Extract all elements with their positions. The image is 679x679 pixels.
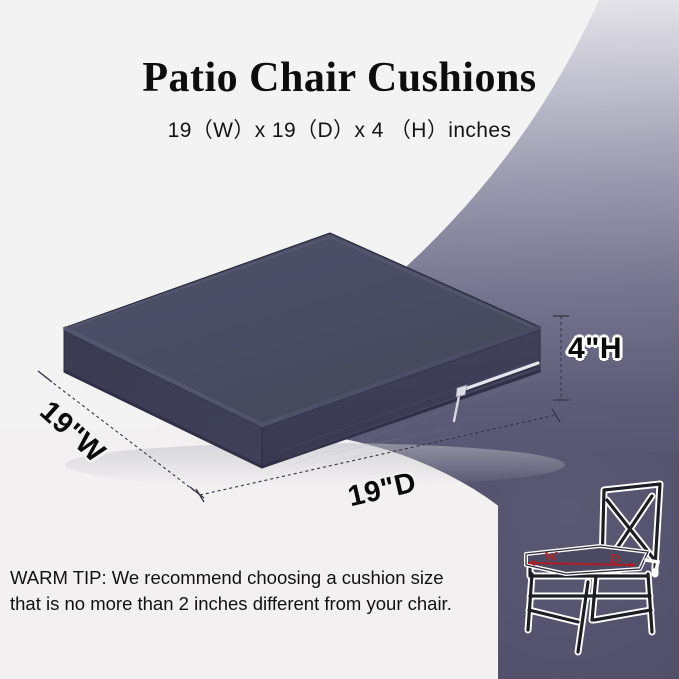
page-subtitle: 19（W）x 19（D）x 4 （H）inches <box>0 114 679 144</box>
product-infographic: Patio Chair Cushions 19（W）x 19（D）x 4 （H）… <box>0 0 679 679</box>
seat-depth-letter: D <box>610 552 620 567</box>
warm-tip: WARM TIP: We recommend choosing a cushio… <box>10 565 510 618</box>
chair-diagram: W D <box>512 470 679 678</box>
height-dimension-label: 4"H <box>568 332 622 366</box>
page-title: Patio Chair Cushions <box>0 54 679 102</box>
cushion-illustration <box>30 215 570 490</box>
warm-tip-line-1: WARM TIP: We recommend choosing a cushio… <box>10 565 510 591</box>
warm-tip-line-2: that is no more than 2 inches different … <box>10 591 510 617</box>
seat-width-letter: W <box>544 550 558 565</box>
